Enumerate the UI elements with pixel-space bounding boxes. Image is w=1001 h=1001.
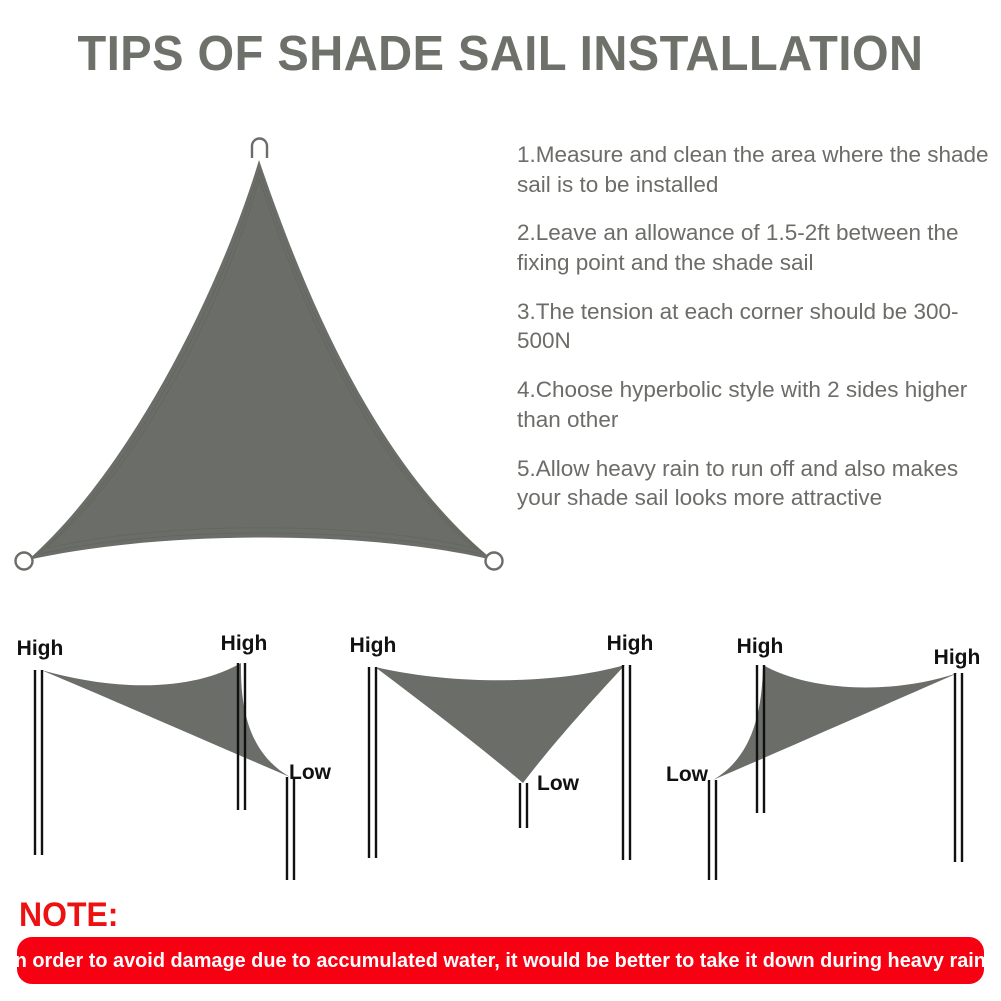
pole-label-low: Low (537, 772, 580, 795)
corner-ring-bottom-right (486, 553, 503, 570)
instruction-steps-list: 1.Measure and clean the area where the s… (517, 140, 995, 513)
diagram-two-high-one-low-left: High High Low (665, 625, 1001, 890)
instruction-step: 3.The tension at each corner should be 3… (517, 297, 995, 356)
corner-ring-bottom-left (16, 553, 33, 570)
shade-sail-instruction-page: TIPS OF SHADE SAIL INSTALLATION 1.Measur… (0, 0, 1001, 1001)
pole-label-high-left: High (17, 637, 64, 660)
pole-label-high-right: High (221, 632, 268, 655)
pole-label-low: Low (289, 761, 332, 784)
sail-shape (41, 663, 290, 777)
pole-label-high-right: High (607, 632, 654, 655)
note-banner-text: In order to avoid damage due to accumula… (9, 949, 991, 973)
pole-configuration-diagrams: High High Low High High Low (0, 625, 1001, 890)
diagram-two-high-one-low-right: High High Low (0, 625, 336, 890)
hero-shade-sail-illustration (0, 130, 520, 590)
pole-label-low: Low (666, 763, 709, 786)
note-label: NOTE: (19, 896, 118, 935)
instruction-step: 4.Choose hyperbolic style with 2 sides h… (517, 375, 995, 434)
page-title: TIPS OF SHADE SAIL INSTALLATION (20, 26, 981, 82)
diagram-two-high-one-low-center: High High Low (333, 625, 669, 890)
pole-label-high-left: High (350, 634, 397, 657)
instruction-step: 5.Allow heavy rain to run off and also m… (517, 454, 995, 513)
pole-label-high-left: High (737, 635, 784, 658)
instruction-step: 1.Measure and clean the area where the s… (517, 140, 995, 199)
sail-body (28, 160, 493, 560)
sail-shape (375, 665, 625, 783)
instruction-step: 2.Leave an allowance of 1.5-2ft between … (517, 218, 995, 277)
note-banner: In order to avoid damage due to accumula… (17, 937, 984, 984)
sail-shape (713, 665, 958, 780)
pole-label-high-right: High (934, 646, 981, 669)
corner-ring-top (252, 139, 267, 159)
